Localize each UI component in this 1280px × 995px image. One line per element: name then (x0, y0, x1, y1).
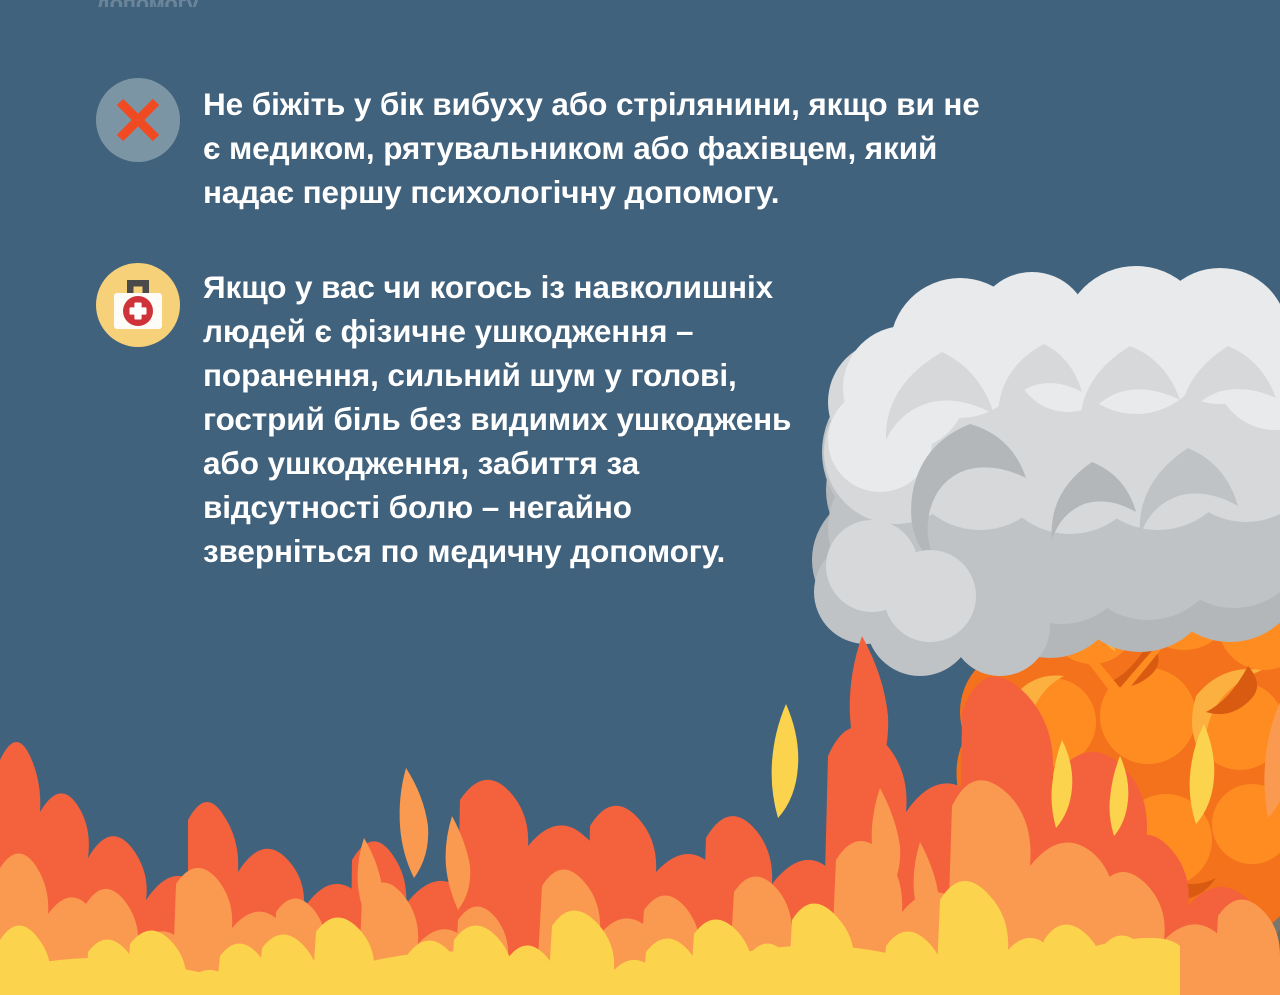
tip-item-do-not-run: Не біжіть у бік вибуху або стрілянини, я… (96, 78, 1043, 214)
tips-container: Не біжіть у бік вибуху або стрілянини, я… (0, 0, 1280, 995)
first-aid-kit-icon (96, 263, 180, 347)
x-mark-glyph (96, 78, 180, 162)
infographic-poster: допомогу. (0, 0, 1280, 995)
red-x-in-circle-icon (96, 78, 180, 162)
first-aid-kit-glyph (96, 263, 180, 347)
tip-text-do-not-run: Не біжіть у бік вибуху або стрілянини, я… (203, 78, 1043, 214)
tip-text-seek-medical-help: Якщо у вас чи когось із навколишніх люде… (203, 263, 863, 573)
tip-item-seek-medical-help: Якщо у вас чи когось із навколишніх люде… (96, 263, 863, 573)
